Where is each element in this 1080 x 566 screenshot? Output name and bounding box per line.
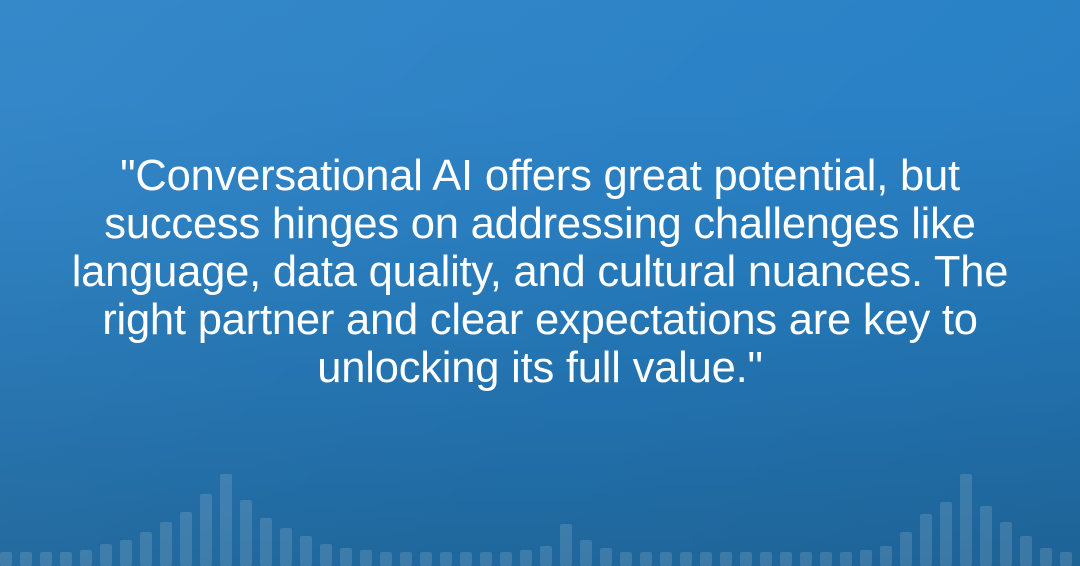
waveform-bar	[200, 494, 212, 566]
waveform-bar	[700, 552, 712, 566]
waveform-bar	[220, 474, 232, 566]
waveform-bar	[140, 532, 152, 566]
waveform-bar	[900, 532, 912, 566]
waveform-bar	[40, 552, 52, 566]
waveform-bar	[600, 548, 612, 566]
waveform-bar	[1020, 536, 1032, 566]
waveform-bar	[260, 518, 272, 566]
quote-card: "Conversational AI offers great potentia…	[0, 0, 1080, 566]
waveform-bar	[740, 552, 752, 566]
waveform-bar	[800, 552, 812, 566]
waveform-bar	[160, 522, 172, 566]
waveform-bar	[720, 552, 732, 566]
waveform-bar	[380, 552, 392, 566]
waveform-bar	[520, 550, 532, 566]
waveform-bar	[980, 506, 992, 566]
audio-waveform-decoration	[0, 456, 1080, 566]
waveform-bar	[540, 546, 552, 566]
waveform-bar	[120, 540, 132, 566]
waveform-bar	[760, 552, 772, 566]
waveform-bar	[80, 550, 92, 566]
waveform-bar	[860, 550, 872, 566]
waveform-bar	[880, 546, 892, 566]
waveform-bar	[280, 528, 292, 566]
waveform-bar	[20, 552, 32, 566]
quote-container: "Conversational AI offers great potentia…	[0, 152, 1080, 392]
waveform-bar	[400, 552, 412, 566]
waveform-bar	[820, 552, 832, 566]
waveform-bar	[180, 512, 192, 566]
waveform-bar	[60, 552, 72, 566]
waveform-bar	[0, 552, 12, 566]
waveform-bar	[340, 548, 352, 566]
waveform-bar	[460, 552, 472, 566]
waveform-bar	[360, 550, 372, 566]
waveform-bar	[620, 552, 632, 566]
waveform-bar	[840, 552, 852, 566]
waveform-bar	[660, 552, 672, 566]
waveform-bar	[1000, 522, 1012, 566]
quote-text: "Conversational AI offers great potentia…	[56, 152, 1024, 392]
waveform-bar	[560, 524, 572, 566]
waveform-bar	[240, 500, 252, 566]
waveform-bar	[780, 552, 792, 566]
waveform-bar	[1040, 548, 1052, 566]
waveform-bar	[300, 536, 312, 566]
waveform-bar	[500, 552, 512, 566]
waveform-bar	[640, 552, 652, 566]
waveform-bar	[940, 502, 952, 566]
waveform-bar	[420, 552, 432, 566]
waveform-bar	[440, 552, 452, 566]
waveform-bar	[680, 552, 692, 566]
waveform-bar	[920, 514, 932, 566]
waveform-bar	[580, 540, 592, 566]
waveform-bar	[100, 544, 112, 566]
waveform-bar	[1060, 552, 1072, 566]
waveform-bar	[480, 552, 492, 566]
waveform-bar	[960, 474, 972, 566]
waveform-bar	[320, 544, 332, 566]
